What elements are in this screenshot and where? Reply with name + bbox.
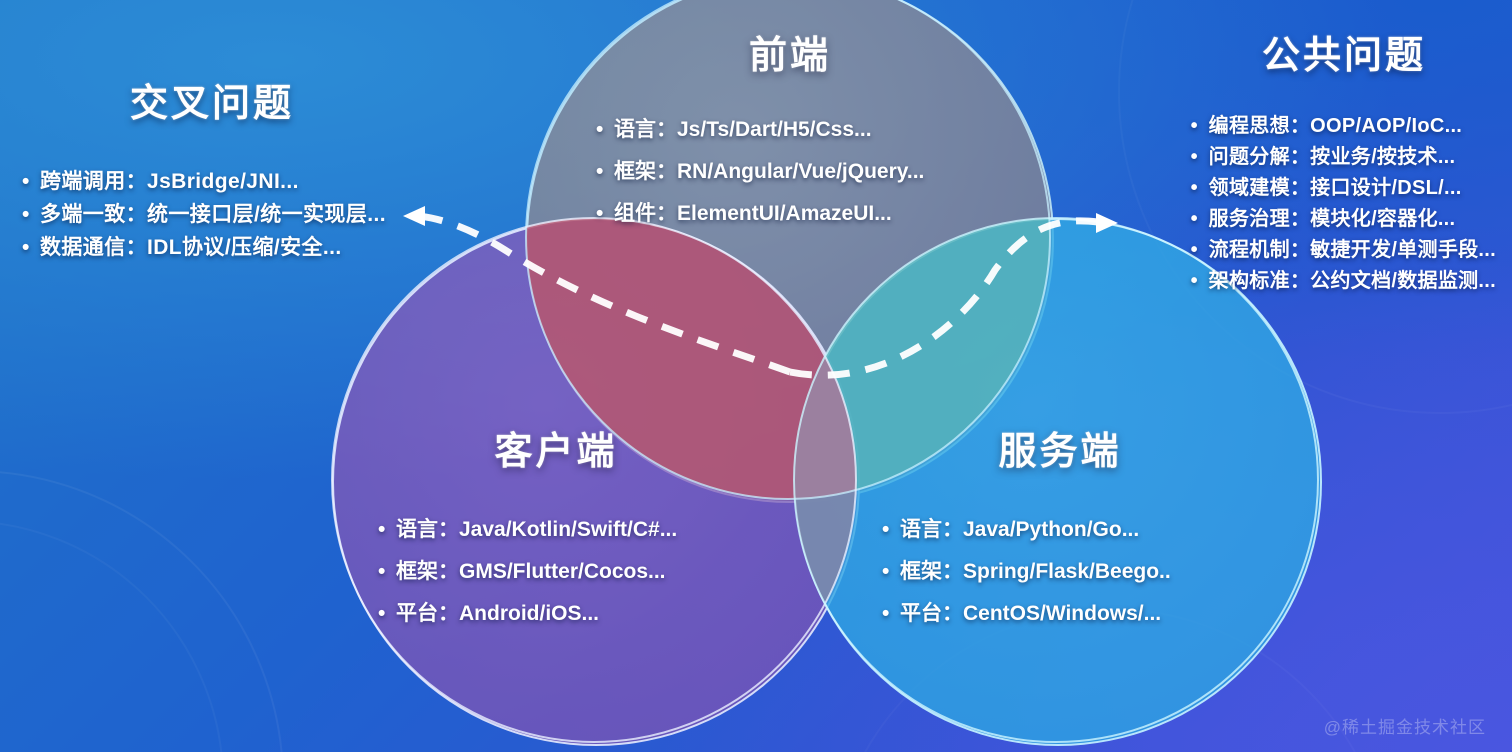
server-panel: 服务端 语言：Java/Python/Go... 框架：Spring/Flask… (860, 420, 1260, 635)
list-item: 语言：Js/Ts/Dart/H5/Css... (594, 109, 1020, 151)
cross-issues-list: 跨端调用：JsBridge/JNI... 多端一致：统一接口层/统一实现层...… (20, 165, 386, 264)
list-item: 编程思想：OOP/AOP/IoC... (1189, 111, 1496, 142)
watermark: @稀土掘金技术社区 (1324, 713, 1486, 738)
client-title: 客户端 (356, 420, 756, 475)
list-item: 组件：ElementUI/AmazeUI... (594, 193, 1020, 235)
list-item: 平台：Android/iOS... (376, 593, 756, 635)
list-item: 问题分解：按业务/按技术... (1189, 142, 1496, 173)
list-item: 框架：Spring/Flask/Beego.. (880, 551, 1260, 593)
list-item: 跨端调用：JsBridge/JNI... (20, 165, 386, 198)
cross-issues-panel: 交叉问题 跨端调用：JsBridge/JNI... 多端一致：统一接口层/统一实… (20, 72, 386, 264)
list-item: 数据通信：IDL协议/压缩/安全... (20, 231, 386, 264)
list-item: 多端一致：统一接口层/统一实现层... (20, 198, 386, 231)
list-item: 语言：Java/Kotlin/Swift/C#... (376, 509, 756, 551)
common-issues-list: 编程思想：OOP/AOP/IoC... 问题分解：按业务/按技术... 领域建模… (1189, 111, 1496, 297)
client-list: 语言：Java/Kotlin/Swift/C#... 框架：GMS/Flutte… (356, 509, 756, 635)
common-issues-panel: 公共问题 编程思想：OOP/AOP/IoC... 问题分解：按业务/按技术...… (1189, 24, 1496, 297)
common-issues-title: 公共问题 (1189, 24, 1426, 79)
list-item: 架构标准：公约文档/数据监测... (1189, 266, 1496, 297)
list-item: 平台：CentOS/Windows/... (880, 593, 1260, 635)
frontend-panel: 前端 语言：Js/Ts/Dart/H5/Css... 框架：RN/Angular… (560, 24, 1020, 235)
server-title: 服务端 (860, 420, 1260, 475)
cross-issues-title: 交叉问题 (130, 72, 386, 127)
frontend-title: 前端 (560, 24, 1020, 79)
client-panel: 客户端 语言：Java/Kotlin/Swift/C#... 框架：GMS/Fl… (356, 420, 756, 635)
infographic-canvas: 交叉问题 跨端调用：JsBridge/JNI... 多端一致：统一接口层/统一实… (0, 0, 1512, 752)
list-item: 服务治理：模块化/容器化... (1189, 204, 1496, 235)
list-item: 流程机制：敏捷开发/单测手段... (1189, 235, 1496, 266)
list-item: 框架：RN/Angular/Vue/jQuery... (594, 151, 1020, 193)
server-list: 语言：Java/Python/Go... 框架：Spring/Flask/Bee… (860, 509, 1260, 635)
list-item: 框架：GMS/Flutter/Cocos... (376, 551, 756, 593)
frontend-list: 语言：Js/Ts/Dart/H5/Css... 框架：RN/Angular/Vu… (560, 109, 1020, 235)
list-item: 语言：Java/Python/Go... (880, 509, 1260, 551)
list-item: 领域建模：接口设计/DSL/... (1189, 173, 1496, 204)
